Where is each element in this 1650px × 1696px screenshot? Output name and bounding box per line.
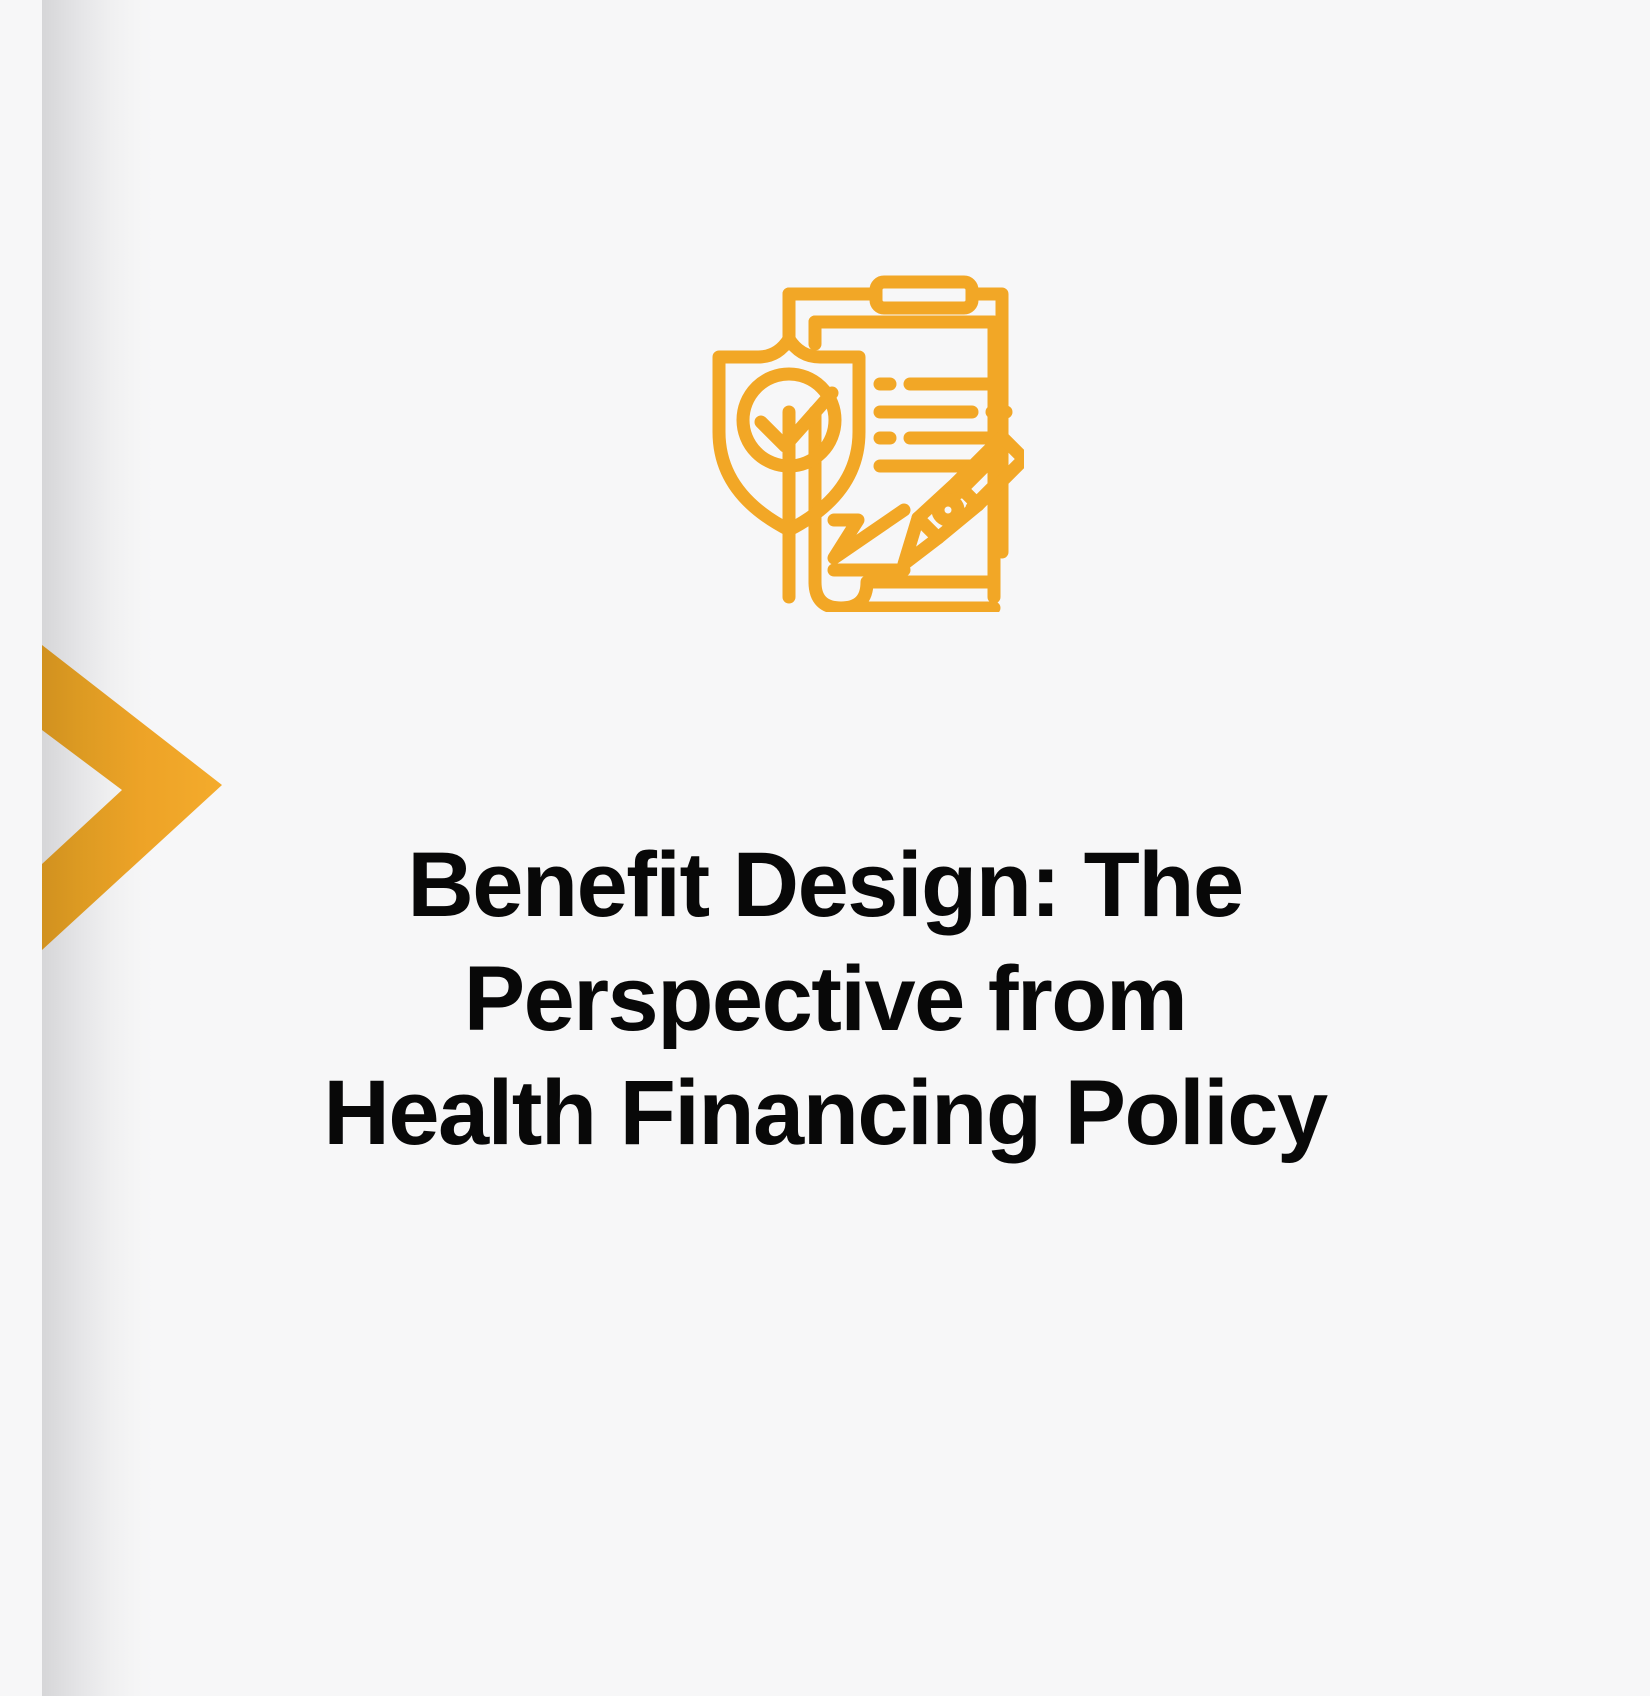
chevron-shape — [42, 645, 222, 950]
pen-nib-hole — [938, 500, 958, 520]
pen-nib-body — [918, 483, 978, 538]
signature-stroke — [834, 510, 904, 558]
signed-policy-document-shield-icon — [672, 252, 1024, 612]
clipboard-clip — [876, 282, 972, 308]
page-title: Benefit Design: The Perspective from Hea… — [255, 828, 1395, 1170]
page-title-line-3: Health Financing Policy — [255, 1056, 1395, 1170]
page-title-line-1: Benefit Design: The — [255, 828, 1395, 942]
slide-card: Benefit Design: The Perspective from Hea… — [0, 0, 1650, 1696]
page-title-line-2: Perspective from — [255, 942, 1395, 1056]
chevron-right-arrow[interactable] — [0, 600, 240, 1000]
